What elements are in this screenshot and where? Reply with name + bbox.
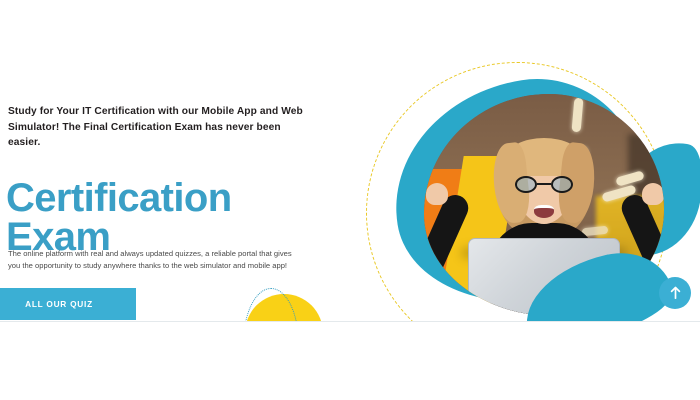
hero-description: The online platform with real and always…: [8, 248, 300, 273]
page-title: Certification Exam: [6, 179, 336, 257]
hand-left: [426, 183, 448, 205]
glasses-bridge: [537, 183, 551, 185]
hero-eyebrow: Study for Your IT Certification with our…: [8, 104, 308, 151]
glasses-lens-right: [551, 176, 573, 193]
hand-right: [642, 183, 664, 205]
arm-left: [424, 191, 472, 289]
scroll-to-top-button[interactable]: [659, 277, 691, 309]
all-our-quiz-button[interactable]: ALL OUR QUIZ: [0, 288, 136, 320]
mouth: [534, 205, 554, 218]
next-section-area: [0, 322, 700, 400]
glasses-icon: [515, 176, 573, 193]
hero-section: Study for Your IT Certification with our…: [0, 0, 700, 400]
glasses-lens-left: [515, 176, 537, 193]
arrow-up-icon: [669, 286, 682, 300]
